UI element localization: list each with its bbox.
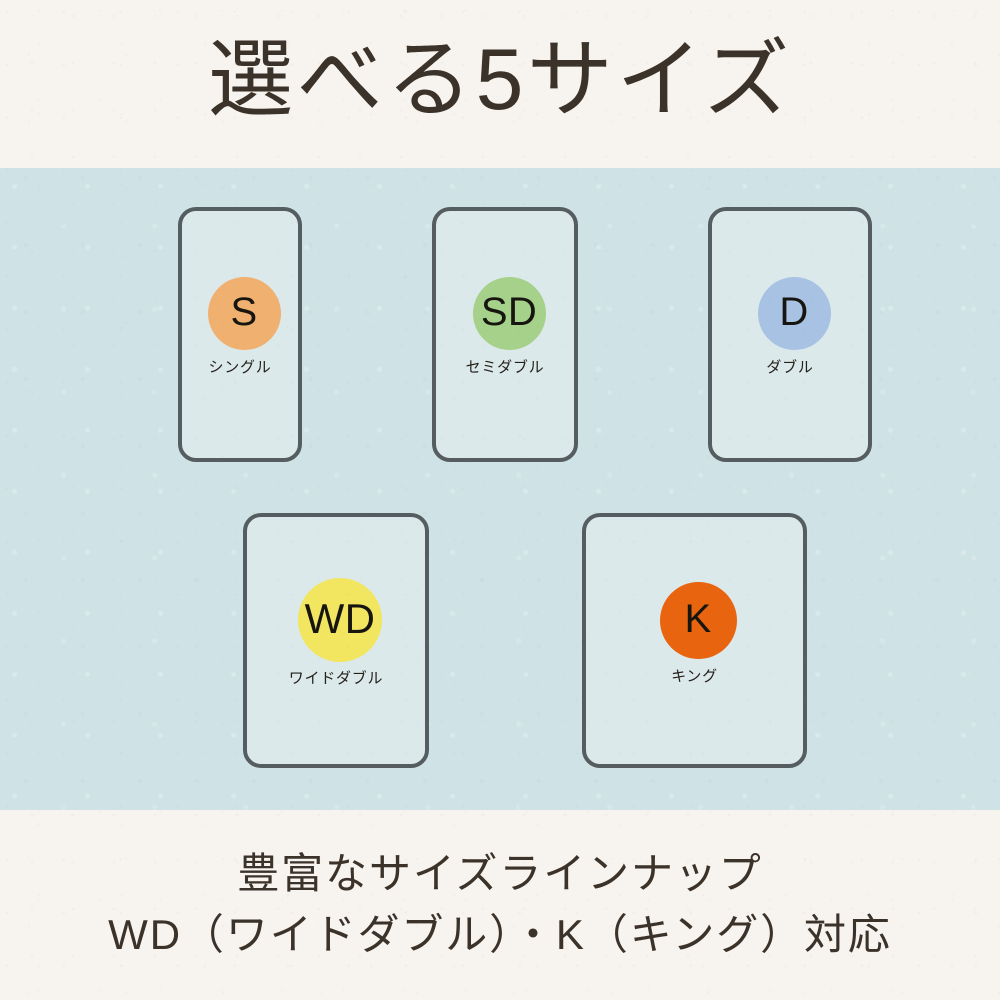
size-badge-s: S: [208, 277, 281, 350]
size-card-d[interactable]: Dダブル: [708, 207, 872, 462]
size-card-k[interactable]: Kキング: [582, 513, 807, 768]
size-card-label: ワイドダブル: [247, 667, 425, 688]
header-band: 選べる5サイズ: [0, 0, 1000, 168]
caption-band: 豊富なサイズラインナップ WD（ワイドダブル）・K（キング）対応: [0, 810, 1000, 1000]
caption-line-1: 豊富なサイズラインナップ: [237, 844, 762, 905]
size-card-label: ダブル: [712, 356, 868, 377]
size-badge-d: D: [758, 277, 831, 350]
size-badge-letter: K: [684, 599, 711, 639]
size-badge-letter: WD: [305, 598, 376, 640]
infographic-page: 選べる5サイズ SシングルSDセミダブルDダブルWDワイドダブルKキング 豊富な…: [0, 0, 1000, 1000]
size-badge-letter: SD: [481, 292, 537, 332]
size-badge-k: K: [660, 582, 737, 659]
page-title: 選べる5サイズ: [207, 37, 792, 123]
caption-line-2: WD（ワイドダブル）・K（キング）対応: [108, 905, 892, 966]
size-card-label: キング: [586, 665, 803, 686]
size-card-label: シングル: [182, 356, 298, 377]
size-badge-sd: SD: [473, 277, 546, 350]
size-card-s[interactable]: Sシングル: [178, 207, 302, 462]
size-diagram-stage: SシングルSDセミダブルDダブルWDワイドダブルKキング: [0, 168, 1000, 810]
size-card-label: セミダブル: [436, 356, 574, 377]
size-badge-letter: S: [230, 292, 257, 332]
size-badge-wd: WD: [298, 578, 382, 662]
size-badge-letter: D: [779, 292, 808, 332]
size-card-sd[interactable]: SDセミダブル: [432, 207, 578, 462]
size-card-wd[interactable]: WDワイドダブル: [243, 513, 429, 768]
